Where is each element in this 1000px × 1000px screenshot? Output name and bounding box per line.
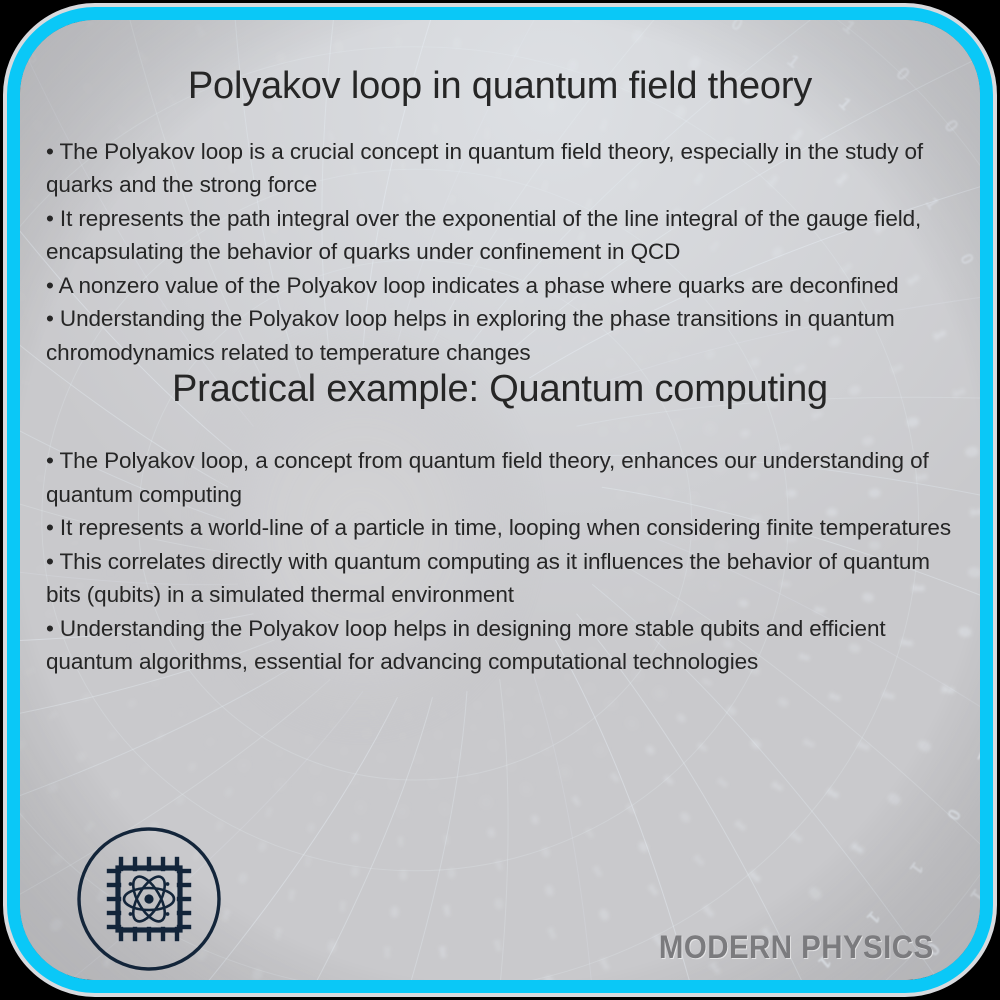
bullet-item: • Understanding the Polyakov loop helps … <box>46 302 954 369</box>
section-title-practical-example: Practical example: Quantum computing <box>46 369 954 411</box>
bullet-item: • The Polyakov loop is a crucial concept… <box>46 135 954 202</box>
bullet-list-practical-example: • The Polyakov loop, a concept from quan… <box>46 444 954 679</box>
bullet-item: • It represents the path integral over t… <box>46 202 954 269</box>
page-title: Polyakov loop in quantum field theory <box>46 66 954 108</box>
slide-card: 1111000100001010100100101000000111111010… <box>0 0 1000 1000</box>
card-cyan-frame: 1111000100001010100100101000000111111010… <box>7 7 993 993</box>
bullet-item: • A nonzero value of the Polyakov loop i… <box>46 269 954 303</box>
bullet-item: • The Polyakov loop, a concept from quan… <box>46 444 954 511</box>
bullet-item: • It represents a world-line of a partic… <box>46 511 954 545</box>
quantum-chip-atom-icon <box>75 825 223 973</box>
bullet-item: • This correlates directly with quantum … <box>46 545 954 612</box>
bullet-item: • Understanding the Polyakov loop helps … <box>46 612 954 679</box>
brand-watermark: MODERN PHYSICS <box>659 929 934 966</box>
bullet-list-overview: • The Polyakov loop is a crucial concept… <box>46 135 954 370</box>
